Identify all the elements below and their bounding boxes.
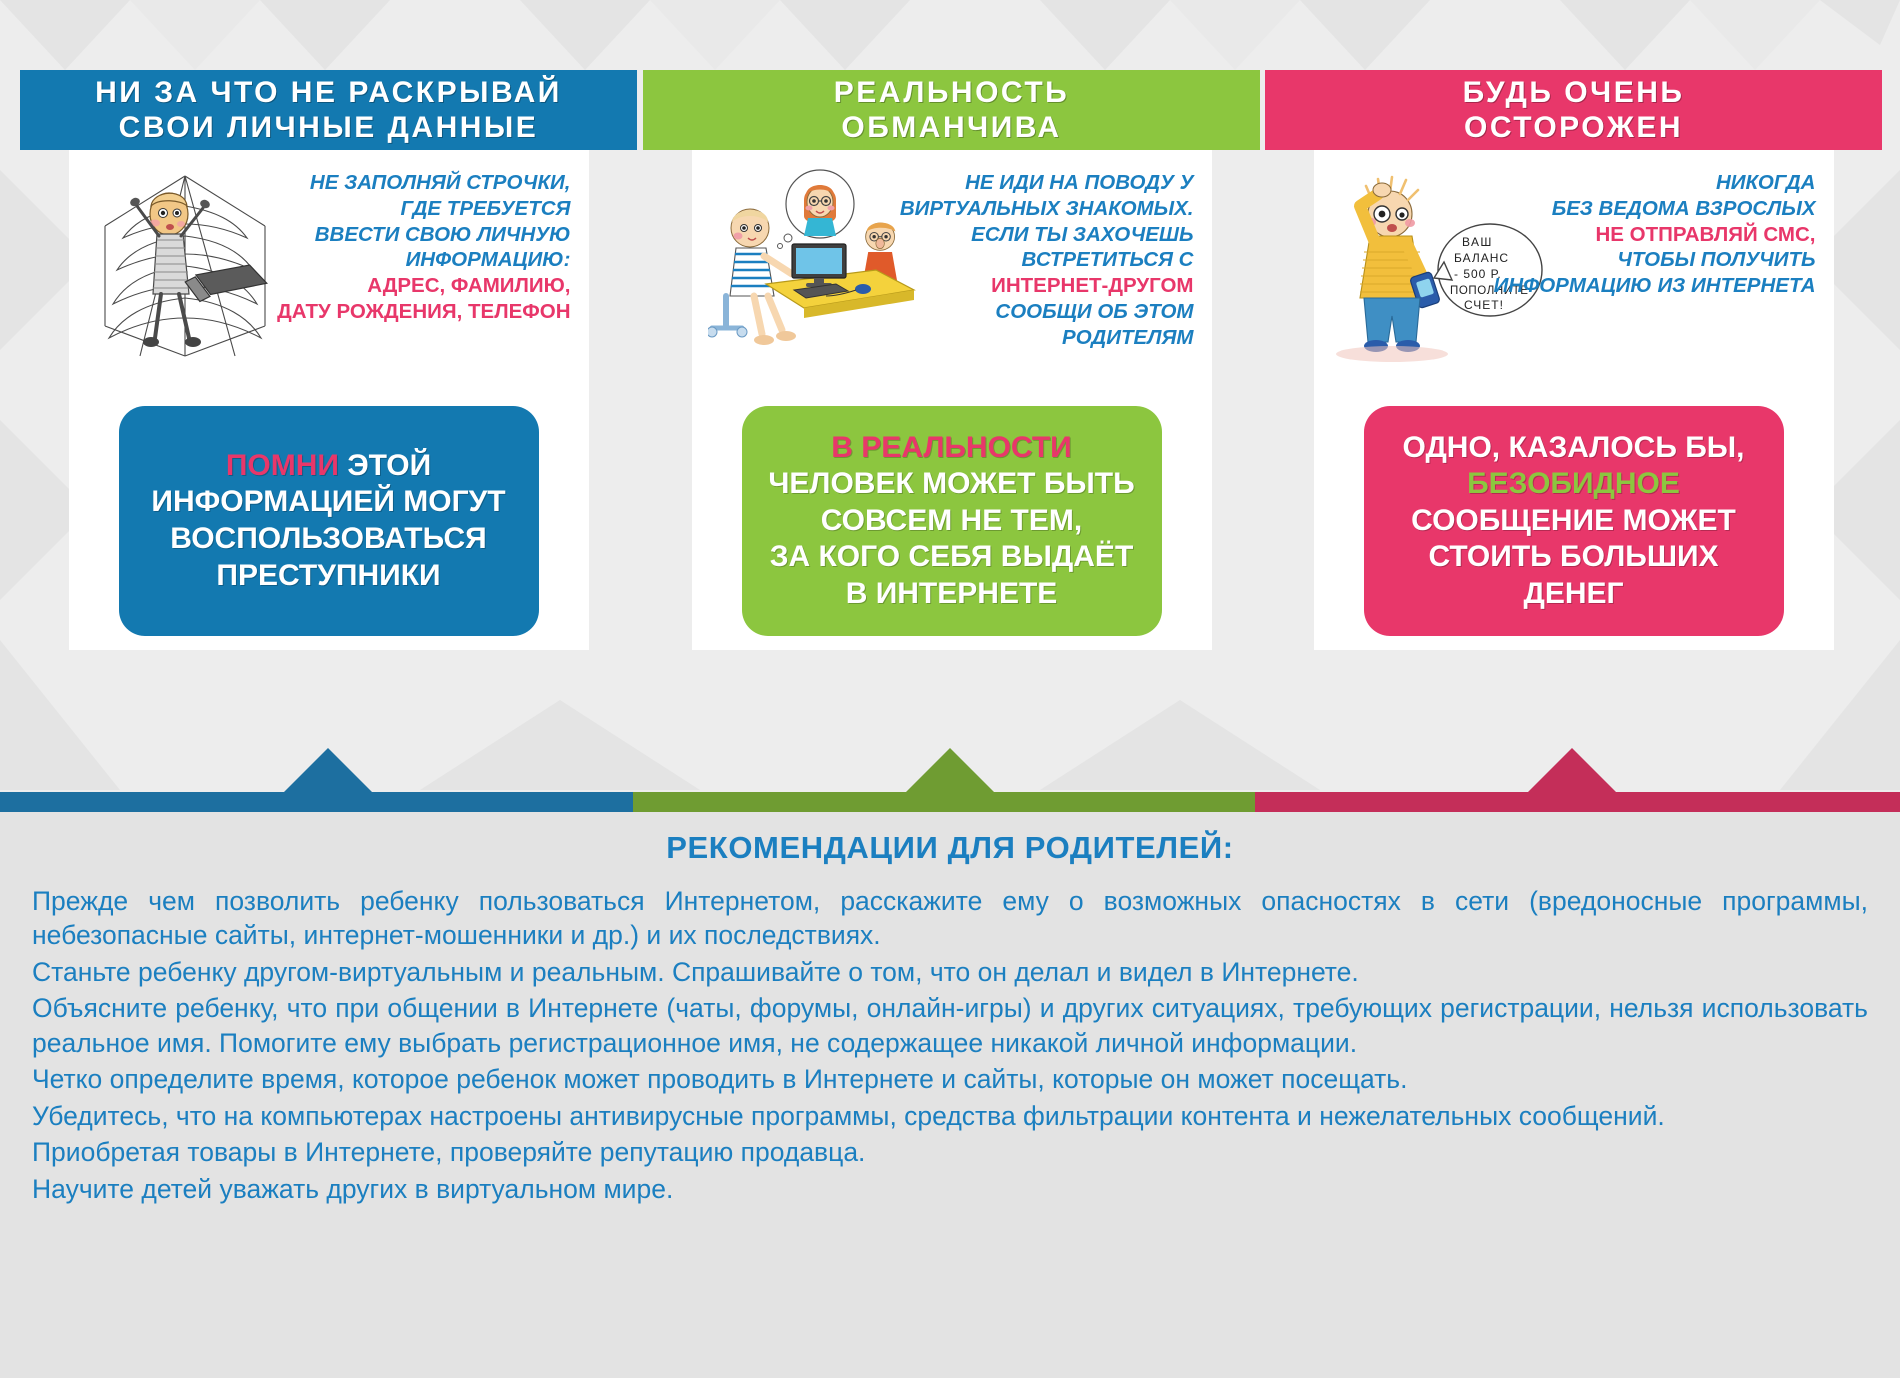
- message-bubble-reality-deceptive: В РЕАЛЬНОСТИ ЧЕЛОВЕК МОЖЕТ БЫТЬ СОВСЕМ Н…: [742, 406, 1162, 636]
- tip-text-be-careful: НИКОГДА БЕЗ ВЕДОМА ВЗРОСЛЫХ НЕ ОТПРАВЛЯЙ…: [1486, 170, 1816, 299]
- tip-text-reality-deceptive: НЕ ИДИ НА ПОВОДУ У ВИРТУАЛЬНЫХ ЗНАКОМЫХ.…: [864, 170, 1194, 351]
- tip-line: ВИРТУАЛЬНЫХ ЗНАКОМЫХ.: [864, 196, 1194, 222]
- bubble-line: ОДНО, КАЗАЛОСЬ БЫ,: [1380, 430, 1768, 467]
- banner-be-careful: БУДЬ ОЧЕНЬ ОСТОРОЖЕН: [1265, 70, 1882, 150]
- bubble-line: ПОМНИ ЭТОЙ: [135, 448, 523, 485]
- column-be-careful: БУДЬ ОЧЕНЬ ОСТОРОЖЕН: [1265, 70, 1882, 650]
- tip-line: ИНФОРМАЦИЮ ИЗ ИНТЕРНЕТА: [1486, 273, 1816, 299]
- triangle-green: [906, 748, 994, 792]
- tip-line: ГДЕ ТРЕБУЕТСЯ: [261, 196, 571, 222]
- recommendations-section: РЕКОМЕНДАЦИИ ДЛЯ РОДИТЕЛЕЙ: Прежде чем п…: [0, 812, 1900, 1378]
- triangle-pink: [1528, 748, 1616, 792]
- boy-in-spider-web-icon: [85, 166, 285, 366]
- recommendation-paragraph: Объясните ребенку, что при общении в Инт…: [32, 991, 1868, 1060]
- card-top-personal-data: НЕ ЗАПОЛНЯЙ СТРОЧКИ, ГДЕ ТРЕБУЕТСЯ ВВЕСТ…: [83, 162, 575, 377]
- recommendation-paragraph: Прежде чем позволить ребенку пользоватьс…: [32, 884, 1868, 953]
- recommendation-paragraph: Четко определите время, которое ребенок …: [32, 1062, 1868, 1096]
- svg-text:СЧЕТ!: СЧЕТ!: [1464, 298, 1504, 312]
- bubble-emphasis: ПОМНИ: [226, 449, 339, 482]
- bubble-line: СТОИТЬ БОЛЬШИХ: [1380, 539, 1768, 576]
- banner-line-2: СВОИ ЛИЧНЫЕ ДАННЫЕ: [119, 110, 539, 145]
- bubble-line: ЗА КОГО СЕБЯ ВЫДАЁТ: [758, 539, 1146, 576]
- bubble-line: СООБЩЕНИЕ МОЖЕТ: [1380, 503, 1768, 540]
- divider-segment-green: [633, 792, 1255, 812]
- card-personal-data: НЕ ЗАПОЛНЯЙ СТРОЧКИ, ГДЕ ТРЕБУЕТСЯ ВВЕСТ…: [69, 150, 589, 650]
- card-top-reality-deceptive: НЕ ИДИ НА ПОВОДУ У ВИРТУАЛЬНЫХ ЗНАКОМЫХ.…: [706, 162, 1198, 377]
- recommendation-paragraph: Станьте ребенку другом-виртуальным и реа…: [32, 955, 1868, 989]
- bubble-line: ДЕНЕГ: [1380, 576, 1768, 613]
- banner-line-1: БУДЬ ОЧЕНЬ: [1463, 75, 1685, 110]
- tip-line: ВСТРЕТИТЬСЯ С: [864, 247, 1194, 273]
- tip-highlight-line: НЕ ОТПРАВЛЯЙ СМС,: [1486, 222, 1816, 248]
- tip-line: ИНФОРМАЦИЮ:: [261, 247, 571, 273]
- bubble-line: ЧЕЛОВЕК МОЖЕТ БЫТЬ: [758, 466, 1146, 503]
- tip-line: НЕ ИДИ НА ПОВОДУ У: [864, 170, 1194, 196]
- tip-line: ЧТОБЫ ПОЛУЧИТЬ: [1486, 247, 1816, 273]
- banner-line-1: НИ ЗА ЧТО НЕ РАСКРЫВАЙ: [95, 75, 562, 110]
- bubble-line: ВОСПОЛЬЗОВАТЬСЯ: [135, 521, 523, 558]
- banner-line-2: ОБМАНЧИВА: [841, 110, 1061, 145]
- recommendations-title: РЕКОМЕНДАЦИИ ДЛЯ РОДИТЕЛЕЙ:: [32, 830, 1868, 866]
- bubble-line: В ИНТЕРНЕТЕ: [758, 576, 1146, 613]
- tip-line: ЕСЛИ ТЫ ЗАХОЧЕШЬ: [864, 222, 1194, 248]
- banner-line-2: ОСТОРОЖЕН: [1464, 110, 1683, 145]
- tip-line: ВВЕСТИ СВОЮ ЛИЧНУЮ: [261, 222, 571, 248]
- divider-segment-pink: [1255, 792, 1900, 812]
- tip-line: НИКОГДА: [1486, 170, 1816, 196]
- banner-reality-deceptive: РЕАЛЬНОСТЬ ОБМАНЧИВА: [643, 70, 1260, 150]
- card-be-careful: ВАШ БАЛАНС - 500 Р. ПОПОЛНИТЕ СЧЕТ! НИКО…: [1314, 150, 1834, 650]
- bubble-emphasis: БЕЗОБИДНОЕ: [1380, 466, 1768, 503]
- tip-line: СООБЩИ ОБ ЭТОМ РОДИТЕЛЯМ: [864, 299, 1194, 351]
- bubble-line: ИНФОРМАЦИЕЙ МОГУТ: [135, 484, 523, 521]
- triangle-blue: [284, 748, 372, 792]
- tip-text-personal-data: НЕ ЗАПОЛНЯЙ СТРОЧКИ, ГДЕ ТРЕБУЕТСЯ ВВЕСТ…: [261, 170, 571, 325]
- card-top-be-careful: ВАШ БАЛАНС - 500 Р. ПОПОЛНИТЕ СЧЕТ! НИКО…: [1328, 162, 1820, 377]
- tip-highlight-line: ДАТУ РОЖДЕНИЯ, ТЕЛЕФОН: [261, 299, 571, 325]
- bubble-emphasis: В РЕАЛЬНОСТИ: [758, 430, 1146, 467]
- tip-line: БЕЗ ВЕДОМА ВЗРОСЛЫХ: [1486, 196, 1816, 222]
- card-reality-deceptive: НЕ ИДИ НА ПОВОДУ У ВИРТУАЛЬНЫХ ЗНАКОМЫХ.…: [692, 150, 1212, 650]
- recommendation-paragraph: Научите детей уважать других в виртуальн…: [32, 1172, 1868, 1206]
- message-bubble-personal-data: ПОМНИ ЭТОЙ ИНФОРМАЦИЕЙ МОГУТ ВОСПОЛЬЗОВА…: [119, 406, 539, 636]
- divider-segment-blue: [0, 792, 633, 812]
- tip-highlight-line: ИНТЕРНЕТ-ДРУГОМ: [864, 273, 1194, 299]
- column-reality-deceptive: РЕАЛЬНОСТЬ ОБМАНЧИВА: [643, 70, 1260, 650]
- recommendation-paragraph: Убедитесь, что на компьютерах настроены …: [32, 1099, 1868, 1133]
- bubble-line: ПРЕСТУПНИКИ: [135, 558, 523, 595]
- column-personal-data: НИ ЗА ЧТО НЕ РАСКРЫВАЙ СВОИ ЛИЧНЫЕ ДАННЫ…: [20, 70, 637, 650]
- bubble-line: СОВСЕМ НЕ ТЕМ,: [758, 503, 1146, 540]
- tip-line: НЕ ЗАПОЛНЯЙ СТРОЧКИ,: [261, 170, 571, 196]
- tip-highlight-line: АДРЕС, ФАМИЛИЮ,: [261, 273, 571, 299]
- recommendation-paragraph: Приобретая товары в Интернете, проверяйт…: [32, 1135, 1868, 1169]
- message-bubble-be-careful: ОДНО, КАЗАЛОСЬ БЫ, БЕЗОБИДНОЕ СООБЩЕНИЕ …: [1364, 406, 1784, 636]
- poster-columns: НИ ЗА ЧТО НЕ РАСКРЫВАЙ СВОИ ЛИЧНЫЕ ДАННЫ…: [0, 0, 1900, 800]
- banner-personal-data: НИ ЗА ЧТО НЕ РАСКРЫВАЙ СВОИ ЛИЧНЫЕ ДАННЫ…: [20, 70, 637, 150]
- divider-triangles: [0, 740, 1900, 796]
- divider-bar: [0, 792, 1900, 812]
- banner-line-1: РЕАЛЬНОСТЬ: [834, 75, 1069, 110]
